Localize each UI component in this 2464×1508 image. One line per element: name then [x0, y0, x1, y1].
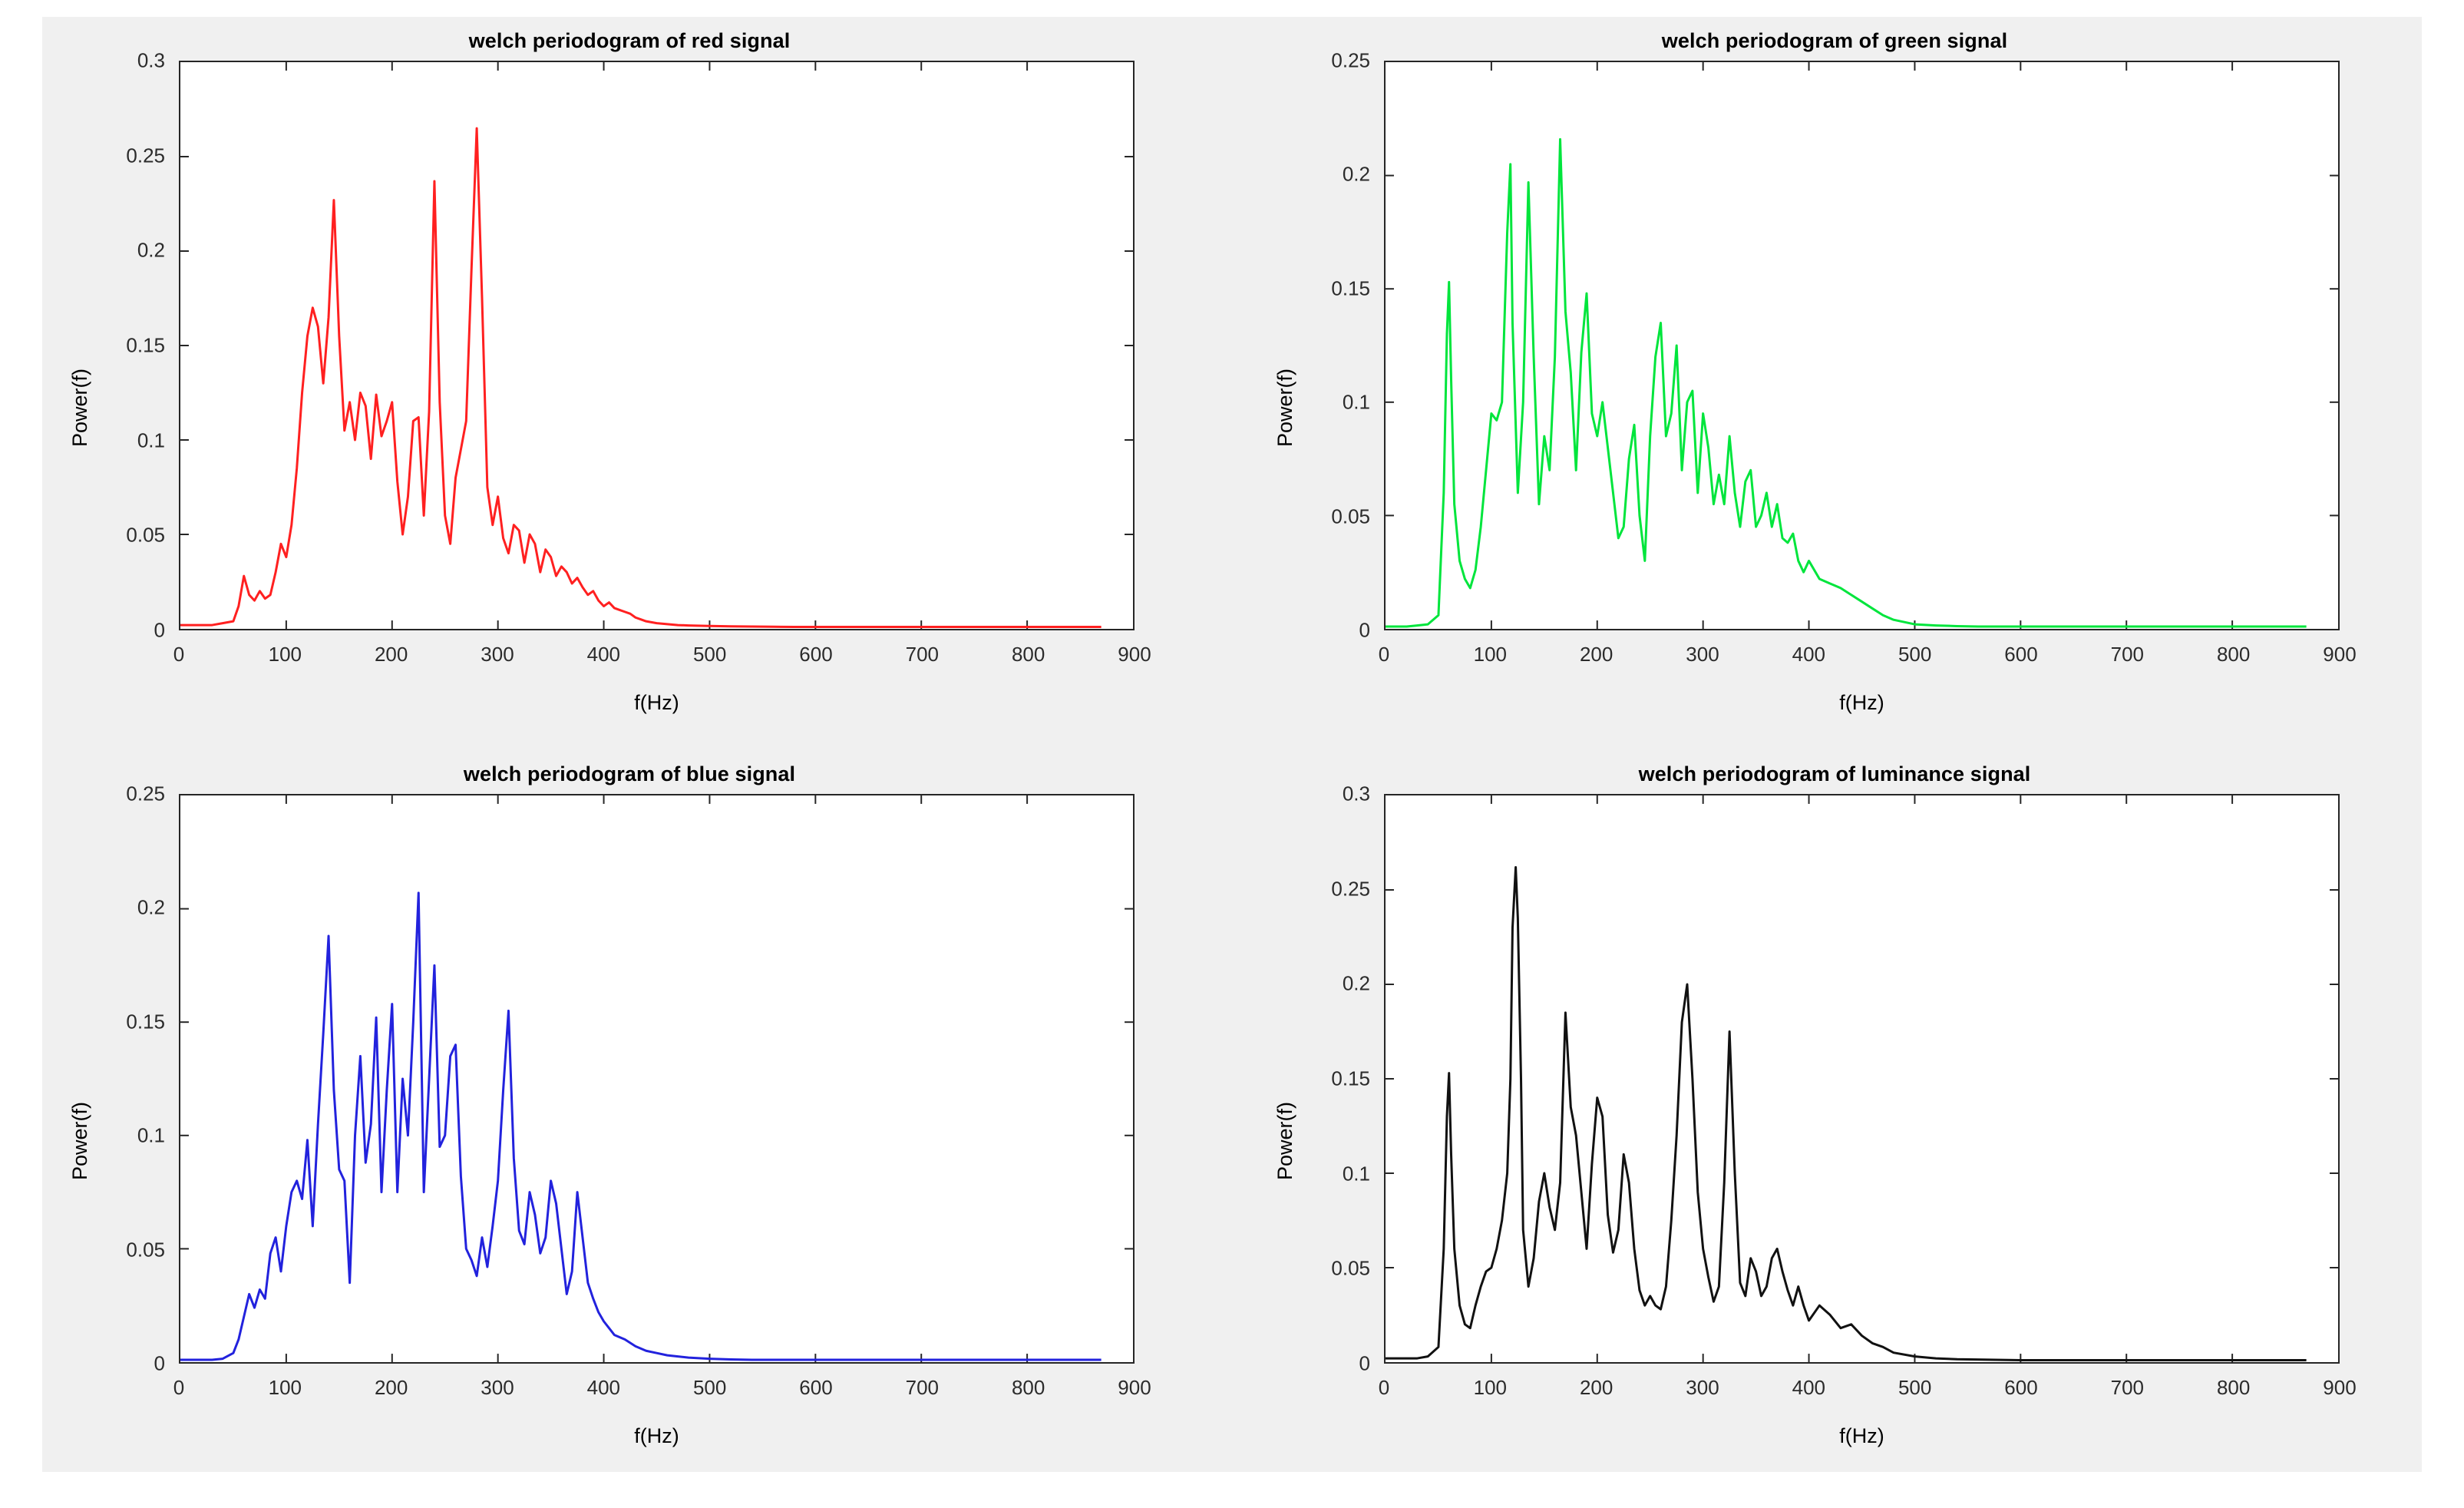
- y-tick-label-blue-3: 0.15: [42, 1010, 165, 1033]
- y-tick-label-red-5: 0.25: [42, 144, 165, 167]
- x-tick-label-luminance-2: 200: [1580, 1376, 1613, 1400]
- x-tick-label-green-0: 0: [1379, 643, 1389, 666]
- y-tick-label-luminance-2: 0.1: [1247, 1162, 1370, 1186]
- y-tick-label-green-3: 0.15: [1247, 276, 1370, 300]
- x-tick-label-blue-4: 400: [587, 1376, 620, 1400]
- matlab-figure-canvas: welch periodogram of red signal Power(f)…: [42, 17, 2422, 1472]
- y-tick-label-green-5: 0.25: [1247, 49, 1370, 73]
- x-tick-label-luminance-4: 400: [1792, 1376, 1825, 1400]
- y-tick-label-red-4: 0.2: [42, 239, 165, 263]
- plot-area-blue: [179, 794, 1135, 1364]
- y-tick-label-green-4: 0.2: [1247, 163, 1370, 187]
- y-tick-label-luminance-4: 0.2: [1247, 972, 1370, 996]
- y-tick-label-green-1: 0.05: [1247, 504, 1370, 528]
- x-tick-label-blue-5: 500: [693, 1376, 726, 1400]
- y-tick-label-green-0: 0: [1247, 619, 1370, 643]
- y-tick-label-blue-2: 0.1: [42, 1124, 165, 1148]
- x-tick-label-red-1: 100: [269, 643, 302, 666]
- periodogram-curve-red: [180, 62, 1133, 629]
- subplot-blue-signal: welch periodogram of blue signal Power(f…: [42, 750, 1217, 1464]
- plot-area-green: [1384, 61, 2340, 630]
- subplot-green-signal: welch periodogram of green signal Power(…: [1247, 17, 2422, 731]
- y-tick-label-green-2: 0.1: [1247, 391, 1370, 415]
- periodogram-curve-green: [1386, 62, 2338, 629]
- x-tick-label-luminance-8: 800: [2217, 1376, 2250, 1400]
- x-axis-label-luminance: f(Hz): [1384, 1424, 2340, 1448]
- y-tick-label-luminance-1: 0.05: [1247, 1257, 1370, 1281]
- y-tick-label-luminance-0: 0: [1247, 1352, 1370, 1376]
- subplot-title-red: welch periodogram of red signal: [42, 29, 1217, 53]
- x-tick-label-luminance-0: 0: [1379, 1376, 1389, 1400]
- x-tick-label-red-0: 0: [173, 643, 184, 666]
- x-tick-label-luminance-5: 500: [1898, 1376, 1931, 1400]
- x-tick-label-luminance-6: 600: [2004, 1376, 2037, 1400]
- x-tick-label-luminance-9: 900: [2323, 1376, 2356, 1400]
- periodogram-curve-luminance: [1386, 795, 2338, 1362]
- x-tick-label-red-4: 400: [587, 643, 620, 666]
- x-tick-label-blue-3: 300: [481, 1376, 514, 1400]
- x-axis-label-red: f(Hz): [179, 691, 1135, 715]
- y-tick-label-red-6: 0.3: [42, 49, 165, 73]
- subplot-luminance-signal: welch periodogram of luminance signal Po…: [1247, 750, 2422, 1464]
- y-tick-label-red-1: 0.05: [42, 524, 165, 547]
- x-tick-label-green-9: 900: [2323, 643, 2356, 666]
- x-tick-label-green-7: 700: [2111, 643, 2144, 666]
- x-tick-label-blue-2: 200: [375, 1376, 408, 1400]
- x-tick-label-blue-8: 800: [1012, 1376, 1045, 1400]
- x-tick-label-luminance-1: 100: [1474, 1376, 1507, 1400]
- x-tick-label-red-7: 700: [906, 643, 939, 666]
- x-tick-label-red-8: 800: [1012, 643, 1045, 666]
- x-tick-label-green-4: 400: [1792, 643, 1825, 666]
- periodogram-curve-blue: [180, 795, 1133, 1362]
- x-tick-label-green-1: 100: [1474, 643, 1507, 666]
- subplot-title-green: welch periodogram of green signal: [1247, 29, 2422, 53]
- plot-area-luminance: [1384, 794, 2340, 1364]
- y-tick-label-red-0: 0: [42, 619, 165, 643]
- y-tick-label-blue-1: 0.05: [42, 1238, 165, 1262]
- x-tick-label-green-3: 300: [1686, 643, 1719, 666]
- y-tick-label-blue-5: 0.25: [42, 782, 165, 806]
- subplot-title-blue: welch periodogram of blue signal: [42, 762, 1217, 786]
- x-tick-label-red-9: 900: [1118, 643, 1151, 666]
- x-axis-label-blue: f(Hz): [179, 1424, 1135, 1448]
- x-tick-label-luminance-3: 300: [1686, 1376, 1719, 1400]
- y-tick-label-luminance-5: 0.25: [1247, 877, 1370, 901]
- x-tick-label-red-2: 200: [375, 643, 408, 666]
- x-axis-label-green: f(Hz): [1384, 691, 2340, 715]
- x-tick-label-red-6: 600: [799, 643, 832, 666]
- x-tick-label-blue-6: 600: [799, 1376, 832, 1400]
- x-tick-label-green-8: 800: [2217, 643, 2250, 666]
- y-tick-label-luminance-6: 0.3: [1247, 782, 1370, 806]
- subplot-title-luminance: welch periodogram of luminance signal: [1247, 762, 2422, 786]
- subplot-red-signal: welch periodogram of red signal Power(f)…: [42, 17, 1217, 731]
- y-tick-label-luminance-3: 0.15: [1247, 1067, 1370, 1091]
- x-tick-label-blue-0: 0: [173, 1376, 184, 1400]
- x-tick-label-blue-7: 700: [906, 1376, 939, 1400]
- x-tick-label-red-3: 300: [481, 643, 514, 666]
- x-tick-label-blue-9: 900: [1118, 1376, 1151, 1400]
- y-tick-label-blue-4: 0.2: [42, 896, 165, 920]
- plot-area-red: [179, 61, 1135, 630]
- y-tick-label-blue-0: 0: [42, 1352, 165, 1376]
- x-tick-label-green-2: 200: [1580, 643, 1613, 666]
- x-tick-label-green-6: 600: [2004, 643, 2037, 666]
- y-tick-label-red-3: 0.15: [42, 334, 165, 358]
- x-tick-label-red-5: 500: [693, 643, 726, 666]
- x-tick-label-blue-1: 100: [269, 1376, 302, 1400]
- x-tick-label-luminance-7: 700: [2111, 1376, 2144, 1400]
- x-tick-label-green-5: 500: [1898, 643, 1931, 666]
- y-tick-label-red-2: 0.1: [42, 428, 165, 452]
